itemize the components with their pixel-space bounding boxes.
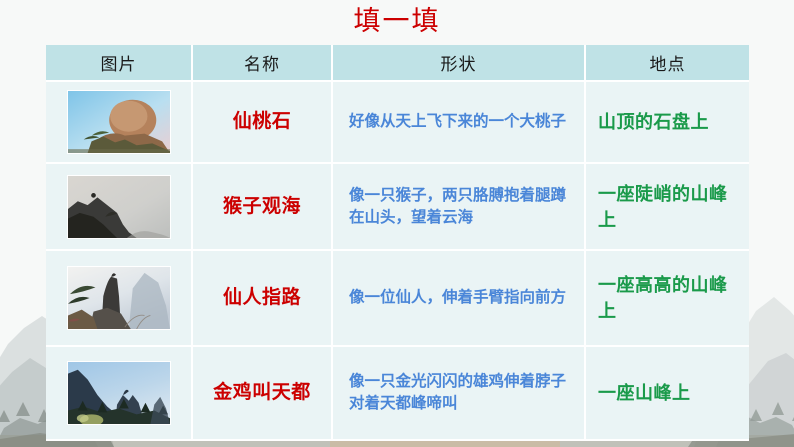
rock-shape: 像一位仙人，伸着手臂指向前方	[333, 287, 584, 309]
cell-shape: 像一只金光闪闪的雄鸡伸着脖子对着天都峰啼叫	[332, 346, 585, 440]
cell-image	[46, 81, 192, 163]
rock-name: 仙桃石	[193, 110, 331, 134]
cell-name: 金鸡叫天都	[192, 346, 332, 440]
column-header-name: 名称	[192, 45, 332, 81]
cell-name: 猴子观海	[192, 163, 332, 250]
rock-place: 一座高高的山峰上	[586, 272, 749, 324]
cell-shape: 像一只猴子，两只胳膊抱着腿蹲在山头，望着云海	[332, 163, 585, 250]
rock-place: 山顶的石盘上	[586, 109, 749, 135]
rock-name: 猴子观海	[193, 195, 331, 219]
cell-name: 仙桃石	[192, 81, 332, 163]
cell-place: 山顶的石盘上	[585, 81, 749, 163]
table-row: 仙人指路 像一位仙人，伸着手臂指向前方 一座高高的山峰上	[46, 250, 749, 346]
photo-xiantaoshi	[67, 90, 171, 154]
photo-xianrenzhilu	[67, 266, 171, 330]
rock-shape: 好像从天上飞下来的一个大桃子	[333, 111, 584, 133]
cell-name: 仙人指路	[192, 250, 332, 346]
cell-shape: 好像从天上飞下来的一个大桃子	[332, 81, 585, 163]
rock-place: 一座陡峭的山峰上	[586, 181, 749, 233]
column-header-shape: 形状	[332, 45, 585, 81]
table-row: 仙桃石 好像从天上飞下来的一个大桃子 山顶的石盘上	[46, 81, 749, 163]
fill-in-table: 图片 名称 形状 地点	[46, 45, 749, 441]
column-header-place: 地点	[585, 45, 749, 81]
rock-name: 金鸡叫天都	[193, 381, 331, 405]
cell-image	[46, 163, 192, 250]
page-title: 填一填	[0, 4, 794, 38]
rock-shape: 像一只猴子，两只胳膊抱着腿蹲在山头，望着云海	[333, 185, 584, 229]
rock-shape: 像一只金光闪闪的雄鸡伸着脖子对着天都峰啼叫	[333, 371, 584, 415]
cell-shape: 像一位仙人，伸着手臂指向前方	[332, 250, 585, 346]
photo-jinjijiaotiandu	[67, 361, 171, 425]
rock-name: 仙人指路	[193, 286, 331, 310]
cell-place: 一座山峰上	[585, 346, 749, 440]
table-row: 猴子观海 像一只猴子，两只胳膊抱着腿蹲在山头，望着云海 一座陡峭的山峰上	[46, 163, 749, 250]
cell-image	[46, 346, 192, 440]
rock-place: 一座山峰上	[586, 380, 749, 406]
photo-houziguanhai	[67, 175, 171, 239]
column-header-image: 图片	[46, 45, 192, 81]
cell-place: 一座高高的山峰上	[585, 250, 749, 346]
table-header-row: 图片 名称 形状 地点	[46, 45, 749, 81]
table-row: 金鸡叫天都 像一只金光闪闪的雄鸡伸着脖子对着天都峰啼叫 一座山峰上	[46, 346, 749, 440]
cell-place: 一座陡峭的山峰上	[585, 163, 749, 250]
cell-image	[46, 250, 192, 346]
